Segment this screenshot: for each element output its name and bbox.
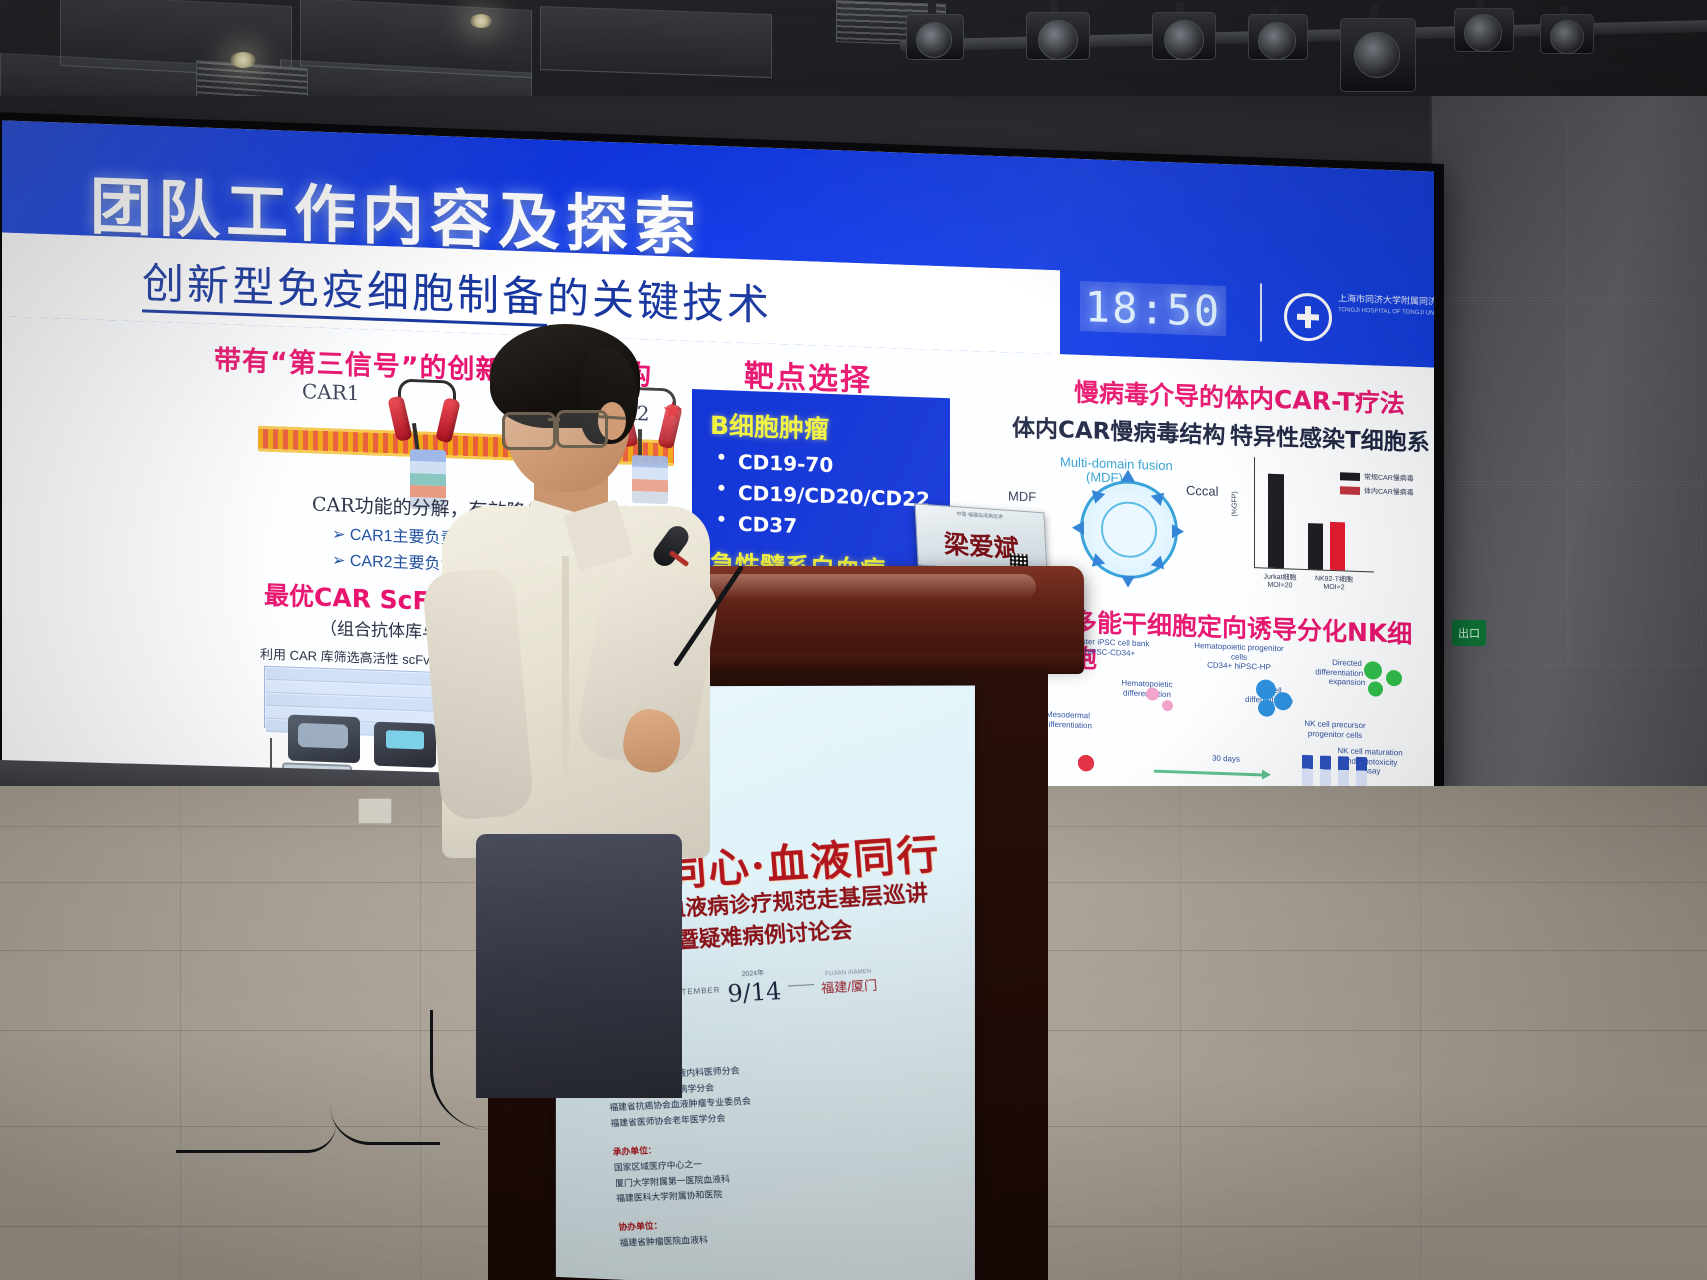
power-cable	[176, 1124, 336, 1153]
banner-organizers-2: 承办单位： 国家区域医疗中心之一 厦门大学附属第一医院血液科 福建医科大学附属协…	[612, 1140, 732, 1207]
org-label-3: 协办单位：	[618, 1220, 663, 1232]
org-item: 福建医科大学附属协和医院	[616, 1187, 732, 1207]
org-label-2: 承办单位：	[612, 1145, 657, 1157]
rbc-grid	[1078, 755, 1132, 757]
hospital-logo-text: 上海市同济大学附属同济医院 TONGJI HOSPITAL OF TONGJI …	[1338, 292, 1434, 319]
wall-socket[interactable]	[358, 798, 392, 824]
right-panel-sub-left: 体内CAR慢病毒结构	[1012, 409, 1225, 451]
chart-bar	[1330, 522, 1345, 571]
tube-icon	[1302, 755, 1313, 789]
target-group-heading: B细胞肿瘤	[710, 406, 950, 451]
cccal-label: Cccal	[1186, 483, 1219, 499]
org-item: 福建省肿瘤医院血液科	[619, 1233, 708, 1252]
cell-icon	[1386, 670, 1402, 687]
downlight	[470, 14, 492, 28]
hospital-logo-icon	[1284, 292, 1332, 342]
chart-bar	[1268, 474, 1284, 569]
chart-xtick: Jurkat细胞 MOI=20	[1254, 571, 1306, 590]
banner-day: 9/14	[727, 977, 783, 1008]
target-item: CD19-70	[738, 450, 950, 482]
eyeglasses-bridge	[548, 418, 560, 421]
exit-sign: 出口	[1452, 620, 1486, 646]
speaker-person	[430, 318, 730, 1078]
tube-icon	[1320, 756, 1331, 790]
right-wall	[1430, 96, 1707, 796]
legend-swatch	[1340, 472, 1360, 481]
presentation-room-photo: 出口 团队工作内容及探索 创新型免疫细胞制备的关键技术 18:50 上海市同济大…	[0, 0, 1707, 1280]
nk-duration-label: 30 days	[1202, 753, 1250, 764]
process-arrow	[1154, 770, 1264, 777]
cell-icon	[1274, 692, 1292, 711]
ceiling-panel	[540, 6, 772, 78]
slide-clock: 18:50	[1080, 281, 1226, 336]
speaker-nameplate: 中国·福建血液病巡讲 梁爱斌	[914, 503, 1047, 574]
banner-organizers-3: 协办单位： 福建省肿瘤医院血液科	[618, 1217, 709, 1252]
legend-label: 体内CAR慢病毒	[1364, 486, 1414, 498]
cell-icon	[1162, 700, 1173, 711]
chart-ylabel: (%GFP)	[1232, 487, 1239, 521]
cell-icon	[1146, 687, 1159, 700]
cell-icon	[1258, 699, 1275, 717]
chart-bar	[1308, 523, 1323, 570]
right-panel-sub-right: 特异性感染T细胞系	[1230, 416, 1430, 457]
exit-sign-label: 出口	[1458, 625, 1480, 641]
power-cable	[330, 1094, 440, 1145]
car1-label: CAR1	[302, 379, 360, 405]
legend-label: 常规CAR慢病毒	[1364, 472, 1414, 484]
cell-icon	[1368, 681, 1383, 697]
cell-icon	[1364, 661, 1382, 680]
lentivirus-graphic	[1080, 479, 1178, 581]
legend-swatch	[1340, 486, 1360, 495]
nk-label: NK cell precursor progenitor cells	[1298, 719, 1372, 741]
speaker-shirt-placket	[562, 556, 569, 786]
cell-icon	[1256, 679, 1276, 700]
logo-divider	[1260, 283, 1262, 341]
banner-place-cn: 福建/厦门	[820, 974, 878, 996]
nk-label: Hematopoietic progenitor cells CD34+ hiP…	[1186, 641, 1292, 674]
chart-xtick: NK92-T细胞 MOI=2	[1308, 573, 1360, 592]
downlight	[230, 52, 256, 68]
nameplate-top-line: 中国·福建血液病巡讲	[920, 508, 1040, 523]
mdf-label: MDF	[1008, 488, 1036, 504]
